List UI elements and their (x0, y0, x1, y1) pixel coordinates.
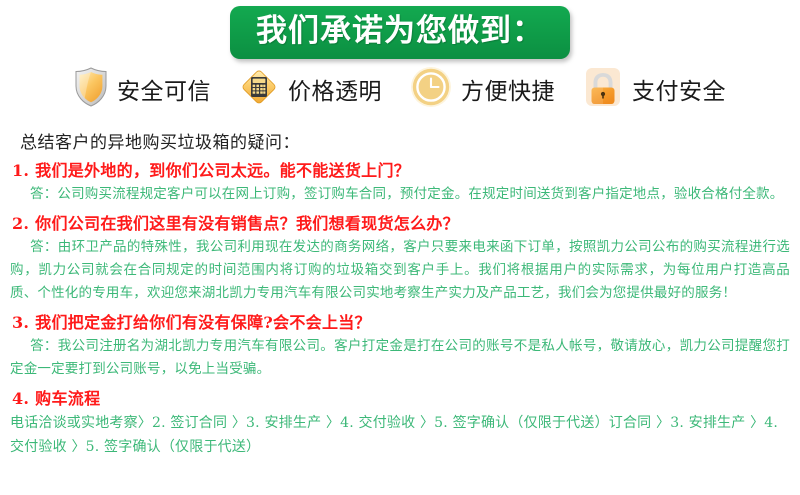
feature-item-payment: 支付安全 (583, 66, 726, 112)
faq-content: 总结客户的异地购买垃圾箱的疑问： 1. 我们是外地的，到你们公司太远。能不能送货… (0, 120, 800, 459)
faq-question-2: 2. 你们公司在我们这里有没有销售点？我们想看现货怎么办？ (12, 210, 790, 234)
faq-answer-2: 答：由环卫产品的特殊性，我公司利用现在发达的商务网络，客户只要来电来函下订单，按… (10, 236, 790, 305)
faq-answer-3: 答：我公司注册名为湖北凯力专用汽车有限公司。客户打定金是打在公司的账号不是私人帐… (10, 335, 790, 381)
feature-row: 安全可信 (0, 58, 800, 120)
faq-intro: 总结客户的异地购买垃圾箱的疑问： (20, 128, 790, 153)
faq-question-3: 3. 我们把定金打给你们有没有保障?会不会上当？ (12, 309, 790, 333)
faq-item-2: 2. 你们公司在我们这里有没有销售点？我们想看现货怎么办？ 答：由环卫产品的特殊… (10, 210, 790, 305)
feature-label-convenience: 方便快捷 (461, 72, 555, 106)
feature-item-convenience: 方便快捷 (410, 66, 555, 112)
faq-answer-1-text: 答：公司购买流程规定客户可以在网上订购，签订购车合同，预付定金。在规定时间送货到… (30, 186, 784, 202)
feature-item-security: 安全可信 (74, 67, 211, 111)
header-banner: 我们承诺为您做到： (230, 6, 570, 59)
header-banner-wrapper: 我们承诺为您做到： (0, 0, 800, 58)
shield-icon (74, 67, 108, 111)
feature-item-price: 价格透明 (239, 67, 382, 111)
purchase-flow-steps-text: 电话洽谈或实地考察〉2. 签订合同 〉3. 安排生产 〉4. 交付验收 〉5. … (10, 415, 778, 455)
banner-title: 我们承诺为您做到： (256, 10, 544, 52)
feature-label-security: 安全可信 (117, 72, 211, 106)
purchase-flow-steps: 电话洽谈或实地考察〉2. 签订合同 〉3. 安排生产 〉4. 交付验收 〉5. … (10, 411, 790, 459)
feature-label-payment: 支付安全 (632, 72, 726, 106)
faq-answer-1: 答：公司购买流程规定客户可以在网上订购，签订购车合同，预付定金。在规定时间送货到… (10, 183, 790, 206)
feature-label-price: 价格透明 (288, 72, 382, 106)
faq-answer-3-text: 答：我公司注册名为湖北凯力专用汽车有限公司。客户打定金是打在公司的账号不是私人帐… (10, 338, 790, 377)
faq-item-1: 1. 我们是外地的，到你们公司太远。能不能送货上门？ 答：公司购买流程规定客户可… (10, 157, 790, 206)
purchase-flow-heading: 4. 购车流程 (12, 385, 790, 409)
faq-item-3: 3. 我们把定金打给你们有没有保障?会不会上当？ 答：我公司注册名为湖北凯力专用… (10, 309, 790, 381)
faq-answer-2-text: 答：由环卫产品的特殊性，我公司利用现在发达的商务网络，客户只要来电来函下订单，按… (10, 239, 790, 301)
lock-icon (583, 66, 623, 112)
purchase-flow-section: 4. 购车流程 电话洽谈或实地考察〉2. 签订合同 〉3. 安排生产 〉4. 交… (10, 385, 790, 459)
clock-icon (410, 66, 452, 112)
calculator-icon (239, 67, 279, 111)
faq-question-1: 1. 我们是外地的，到你们公司太远。能不能送货上门？ (12, 157, 790, 181)
